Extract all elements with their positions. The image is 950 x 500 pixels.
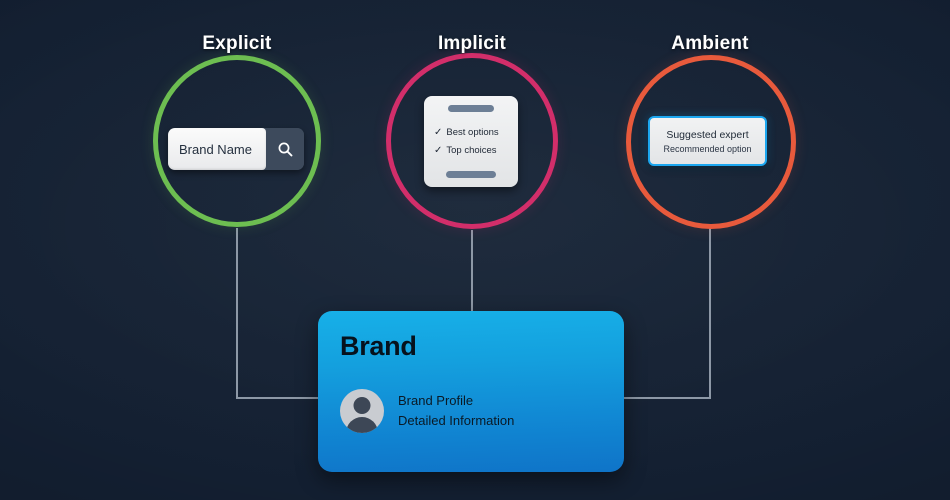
list-item-label: Best options [446, 127, 498, 138]
brand-details-label: Detailed Information [398, 413, 514, 429]
brand-profile-row: Brand Profile Detailed Information [340, 389, 624, 433]
node-label-ambient: Ambient [671, 33, 748, 55]
options-card[interactable]: ✓ Best options ✓ Top choices [424, 96, 518, 187]
check-icon: ✓ [434, 146, 442, 156]
avatar-body [346, 417, 378, 433]
list-item[interactable]: ✓ Top choices [434, 145, 518, 156]
suggestion-card[interactable]: Suggested expert Recommended option [648, 116, 767, 166]
card-bottom-bar [446, 171, 496, 178]
options-list: ✓ Best options ✓ Top choices [424, 127, 518, 156]
connector-ambient-to-brand [622, 228, 710, 398]
node-label-explicit: Explicit [202, 33, 271, 55]
brand-title: Brand [340, 333, 624, 360]
card-top-bar [448, 105, 494, 112]
search-button[interactable] [266, 128, 304, 170]
search-box-widget[interactable]: Brand Name [168, 128, 304, 170]
node-label-implicit: Implicit [438, 33, 506, 55]
list-item-label: Top choices [446, 145, 496, 156]
brand-profile-label: Brand Profile [398, 393, 514, 409]
connector-explicit-to-brand [237, 228, 320, 398]
search-input[interactable]: Brand Name [168, 128, 266, 170]
brand-card[interactable]: Brand Brand Profile Detailed Information [318, 311, 624, 472]
list-item[interactable]: ✓ Best options [434, 127, 518, 138]
search-icon [277, 141, 294, 158]
brand-text-block: Brand Profile Detailed Information [398, 393, 514, 429]
check-icon: ✓ [434, 128, 442, 138]
person-avatar-icon [340, 389, 384, 433]
suggestion-title: Suggested expert [666, 129, 748, 141]
avatar-head [354, 397, 371, 414]
suggestion-subtitle: Recommended option [663, 144, 751, 154]
diagram-canvas: Explicit Brand Name Implicit ✓ Best opti… [0, 0, 950, 500]
